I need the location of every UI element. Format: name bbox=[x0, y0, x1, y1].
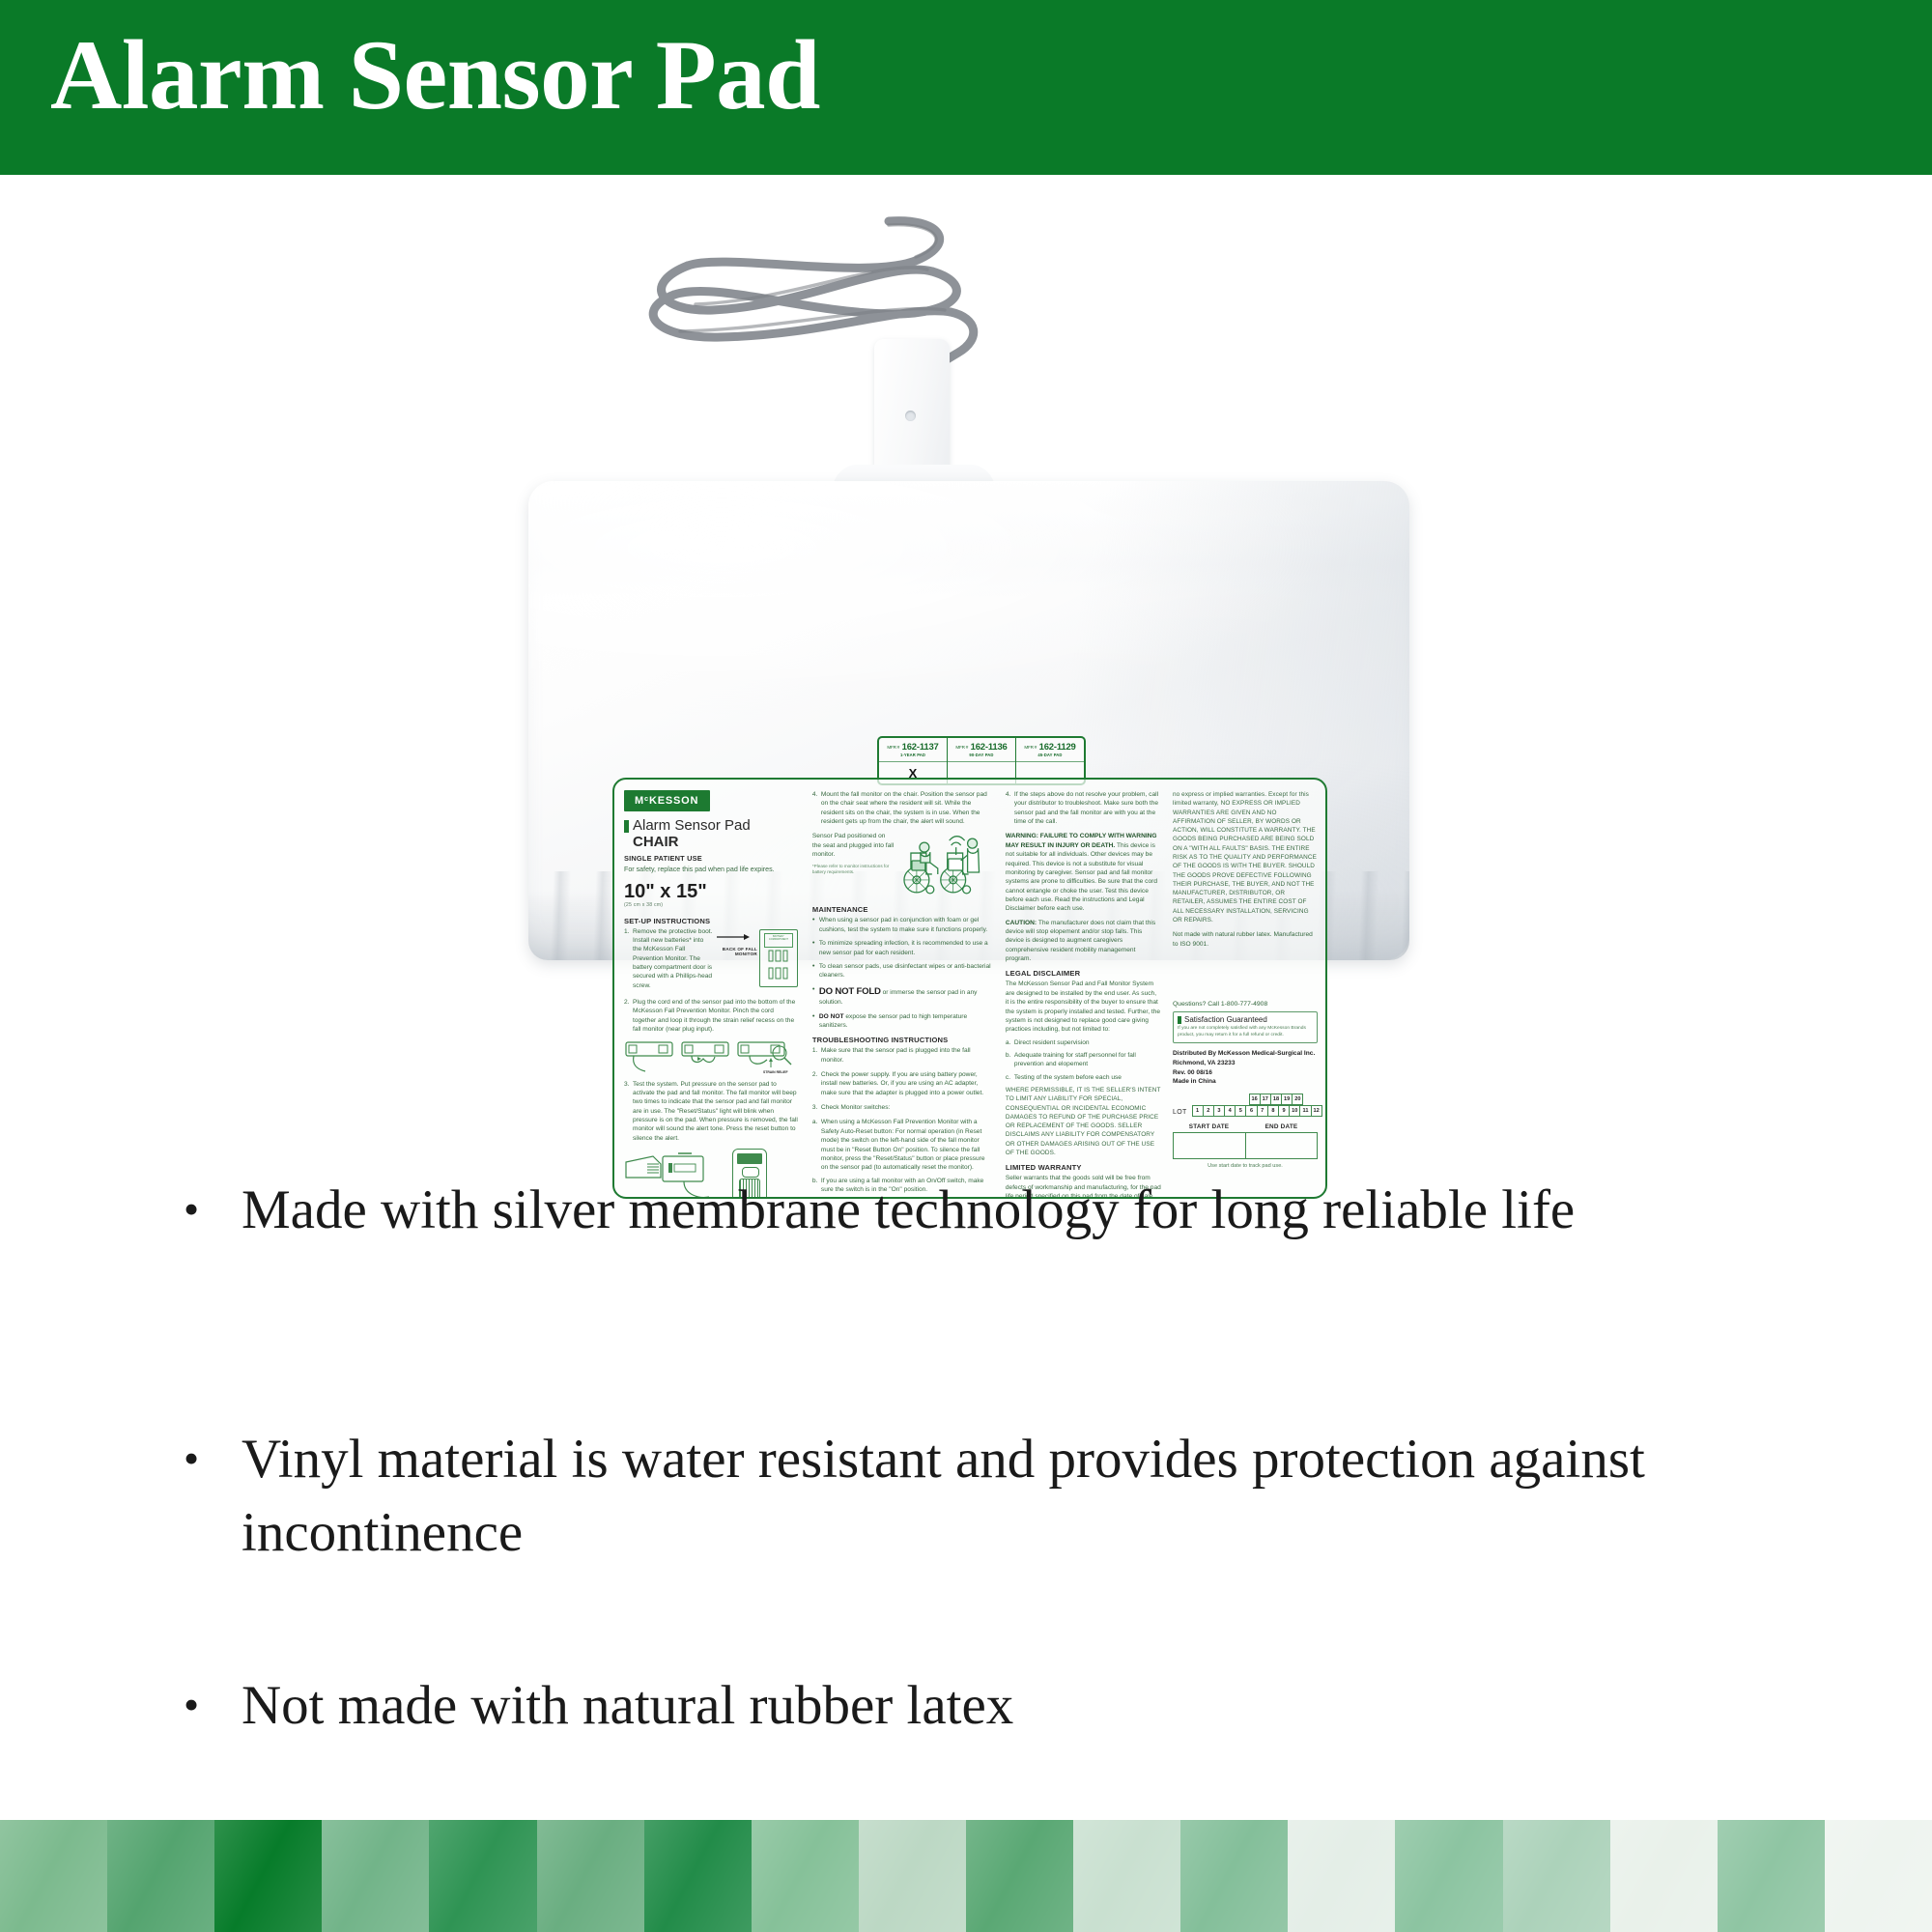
color-swatch-18 bbox=[1825, 1820, 1932, 1932]
strain-relief-diagrams: STRAIN RELIEF bbox=[624, 1040, 798, 1075]
page-header: Alarm Sensor Pad bbox=[0, 0, 1932, 175]
battery-icon-1 bbox=[768, 950, 789, 962]
color-swatch-17 bbox=[1718, 1820, 1825, 1932]
maintenance-item-3: To clean sensor pads, use disinfectant w… bbox=[812, 962, 992, 980]
mfr-box-3-head: MFR # 162-1129 45-DAY PAD bbox=[1016, 738, 1084, 762]
cord-plug-diagram-3: STRAIN RELIEF bbox=[736, 1040, 796, 1075]
bullet-marker-icon: • bbox=[184, 1423, 241, 1481]
lot-date-grid: LOT 16 17 18 19 20 1 2 3 bbox=[1173, 1094, 1318, 1117]
mfr-box-3: MFR # 162-1129 45-DAY PAD bbox=[1016, 738, 1084, 783]
legal-disclaimer-text: The McKesson Sensor Pad and Fall Monitor… bbox=[1006, 980, 1161, 1034]
label-product-title: Alarm Sensor Pad CHAIR bbox=[624, 818, 798, 850]
troubleshooting-heading: TROUBLESHOOTING INSTRUCTIONS bbox=[812, 1036, 992, 1044]
setup-step-2: 2.Plug the cord end of the sensor pad in… bbox=[624, 998, 798, 1034]
color-swatch-12 bbox=[1180, 1820, 1288, 1932]
fall-monitor-back-diagram: BATTERY COMPARTMENT bbox=[759, 929, 798, 987]
year-cell-20[interactable]: 20 bbox=[1292, 1094, 1303, 1105]
warning-block: WARNING: FAILURE TO COMPLY WITH WARNING … bbox=[1006, 832, 1161, 913]
color-swatch-9 bbox=[859, 1820, 966, 1932]
distributor-address: Richmond, VA 23233 bbox=[1173, 1059, 1318, 1068]
color-swatch-16 bbox=[1610, 1820, 1718, 1932]
feature-bullet-2-text: Vinyl material is water resistant and pr… bbox=[241, 1423, 1864, 1570]
monitor-switch-item-a: a.When using a McKesson Fall Prevention … bbox=[812, 1118, 992, 1172]
mfr-box-1-head: MFR # 162-1137 1-YEAR PAD bbox=[879, 738, 947, 762]
legal-disclaimer-heading: LEGAL DISCLAIMER bbox=[1006, 969, 1161, 978]
bullet-marker-icon: • bbox=[184, 1174, 241, 1232]
troubleshooting-step-2: 2.Check the power supply. If you are usi… bbox=[812, 1070, 992, 1097]
color-swatch-10 bbox=[966, 1820, 1073, 1932]
start-date-field[interactable] bbox=[1174, 1133, 1246, 1158]
warranty-caps-text: no express or implied warranties. Except… bbox=[1173, 790, 1318, 924]
monitor-diagram-caption: BACK OF FALLMONITOR bbox=[717, 947, 757, 957]
mckesson-logo: McKESSON bbox=[624, 790, 710, 811]
page-title: Alarm Sensor Pad bbox=[50, 14, 820, 138]
label-column-2: 4.Mount the fall monitor on the chair. P… bbox=[806, 780, 999, 1197]
end-date-field[interactable] bbox=[1246, 1133, 1318, 1158]
product-label: McKESSON Alarm Sensor Pad CHAIR SINGLE P… bbox=[612, 778, 1327, 1199]
feature-bullet-1-text: Made with silver membrane technology for… bbox=[241, 1174, 1575, 1247]
pad-size: 10" x 15" bbox=[624, 882, 798, 901]
color-swatch-4 bbox=[322, 1820, 429, 1932]
cord-plug-diagram-2 bbox=[680, 1040, 733, 1075]
cord-plug-diagram-1 bbox=[624, 1040, 677, 1075]
satisfaction-body: If you are not completely satisfied with… bbox=[1178, 1026, 1313, 1039]
mfr-box-1-number: MFR # 162-1137 bbox=[887, 742, 938, 753]
feature-bullets: • Made with silver membrane technology f… bbox=[0, 1174, 1932, 1811]
color-swatch-3 bbox=[214, 1820, 322, 1932]
feature-bullet-3: • Not made with natural rubber latex bbox=[184, 1669, 1864, 1743]
maintenance-item-1: When using a sensor pad in conjunction w… bbox=[812, 916, 992, 934]
mfr-box-1: MFR # 162-1137 1-YEAR PAD X bbox=[879, 738, 948, 783]
lot-label: LOT bbox=[1173, 1109, 1187, 1116]
battery-icon-2 bbox=[768, 967, 789, 980]
do-not-expose-item: DO NOT expose the sensor pad to high tem… bbox=[812, 1012, 992, 1031]
seat-caption: Sensor Pad positioned on the seat and pl… bbox=[812, 832, 895, 859]
latex-note: Not made with natural rubber latex. Manu… bbox=[1173, 930, 1318, 949]
setup-step-4: 4.Mount the fall monitor on the chair. P… bbox=[812, 790, 992, 826]
month-cell-12[interactable]: 12 bbox=[1311, 1105, 1322, 1117]
color-swatch-1 bbox=[0, 1820, 107, 1932]
color-swatch-14 bbox=[1395, 1820, 1502, 1932]
troubleshooting-step-3: 3.Check Monitor switches: bbox=[812, 1103, 992, 1112]
color-swatch-7 bbox=[644, 1820, 752, 1932]
troubleshooting-step-1: 1.Make sure that the sensor pad is plugg… bbox=[812, 1046, 992, 1065]
bottom-color-strip bbox=[0, 1820, 1932, 1932]
product-photo: MFR # 162-1137 1-YEAR PAD X MFR # 162-11… bbox=[0, 175, 1932, 1160]
troubleshooting-step-4: 4.If the steps above do not resolve your… bbox=[1006, 790, 1161, 826]
color-swatch-8 bbox=[752, 1820, 859, 1932]
made-in: Made in China bbox=[1173, 1077, 1318, 1087]
color-swatch-15 bbox=[1503, 1820, 1610, 1932]
mfr-box-1-sub: 1-YEAR PAD bbox=[900, 753, 925, 757]
pad-size-metric: (25 cm x 38 cm) bbox=[624, 902, 798, 908]
battery-footnote: *Please refer to monitor instructions fo… bbox=[812, 864, 895, 875]
single-patient-use: SINGLE PATIENT USE bbox=[624, 854, 798, 863]
feature-bullet-3-text: Not made with natural rubber latex bbox=[241, 1669, 1013, 1743]
pad-neck-hole bbox=[905, 411, 916, 421]
setup-step-1: 1.Remove the protective boot. Install ne… bbox=[624, 927, 713, 991]
year-row: 16 17 18 19 20 bbox=[1250, 1094, 1322, 1105]
mfr-box-3-sub: 45-DAY PAD bbox=[1037, 753, 1062, 757]
start-date-label: START DATE bbox=[1173, 1123, 1245, 1130]
color-swatch-5 bbox=[429, 1820, 536, 1932]
pad-top-fold bbox=[528, 481, 1409, 597]
alert-waves-icon bbox=[950, 837, 965, 855]
questions-phone: Questions? Call 1-800-777-4908 bbox=[1173, 1001, 1318, 1008]
feature-bullet-2: • Vinyl material is water resistant and … bbox=[184, 1423, 1864, 1570]
mfr-box-2: MFR # 162-1136 90-DAY PAD bbox=[948, 738, 1016, 783]
strain-relief-caption: STRAIN RELIEF bbox=[763, 1070, 788, 1074]
month-row: 1 2 3 4 5 6 7 8 9 10 11 12 bbox=[1193, 1105, 1322, 1117]
permissible-text: WHERE PERMISSIBLE, IT IS THE SELLER'S IN… bbox=[1006, 1086, 1161, 1157]
maintenance-item-2: To minimize spreading infection, it is r… bbox=[812, 939, 992, 957]
legal-item-b: b.Adequate training for staff personnel … bbox=[1006, 1051, 1161, 1069]
arrow-icon bbox=[717, 933, 750, 942]
label-column-1: McKESSON Alarm Sensor Pad CHAIR SINGLE P… bbox=[614, 780, 806, 1197]
color-swatch-6 bbox=[537, 1820, 644, 1932]
color-swatch-13 bbox=[1288, 1820, 1395, 1932]
legal-item-a: a.Direct resident supervision bbox=[1006, 1038, 1161, 1047]
feature-bullet-1: • Made with silver membrane technology f… bbox=[184, 1174, 1864, 1247]
wheelchair-illustrations bbox=[899, 832, 991, 899]
color-swatch-2 bbox=[107, 1820, 214, 1932]
label-column-3: 4.If the steps above do not resolve your… bbox=[999, 780, 1167, 1197]
satisfaction-guaranteed-box: Satisfaction Guaranteed If you are not c… bbox=[1173, 1011, 1318, 1044]
end-date-label: END DATE bbox=[1245, 1123, 1318, 1130]
do-not-fold-item: DO NOT FOLD or immerse the sensor pad in… bbox=[812, 985, 992, 1008]
legal-item-c: c.Testing of the system before each use bbox=[1006, 1073, 1161, 1082]
revision: Rev. 00 08/16 bbox=[1173, 1068, 1318, 1078]
date-entry-boxes[interactable] bbox=[1173, 1132, 1318, 1159]
replace-note: For safety, replace this pad when pad li… bbox=[624, 866, 798, 875]
mfr-box-2-number: MFR # 162-1136 bbox=[955, 742, 1007, 753]
satisfaction-heading: Satisfaction Guaranteed bbox=[1178, 1015, 1313, 1024]
track-note: Use start date to track pad use. bbox=[1173, 1163, 1318, 1169]
mfr-box-2-sub: 90-DAY PAD bbox=[969, 753, 993, 757]
mfr-box-3-number: MFR # 162-1129 bbox=[1024, 742, 1075, 753]
limited-warranty-heading: LIMITED WARRANTY bbox=[1006, 1163, 1161, 1172]
label-column-4: no express or implied warranties. Except… bbox=[1167, 780, 1325, 1197]
setup-heading: SET-UP INSTRUCTIONS bbox=[624, 917, 798, 925]
caution-block: CAUTION: The manufacturer does not claim… bbox=[1006, 919, 1161, 964]
mfr-box-2-head: MFR # 162-1136 90-DAY PAD bbox=[948, 738, 1015, 762]
color-swatch-11 bbox=[1073, 1820, 1180, 1932]
setup-step-3: 3.Test the system. Put pressure on the s… bbox=[624, 1080, 798, 1144]
maintenance-heading: MAINTENANCE bbox=[812, 905, 992, 914]
distributed-by: Distributed By McKesson Medical-Surgical… bbox=[1173, 1049, 1318, 1059]
bullet-marker-icon: • bbox=[184, 1669, 241, 1727]
